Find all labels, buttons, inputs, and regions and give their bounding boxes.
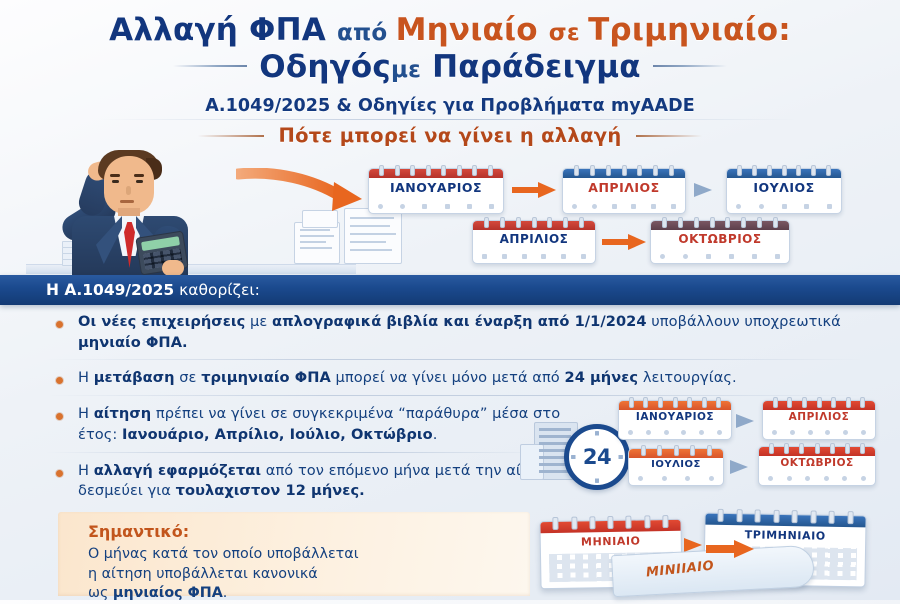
arrow-right-blue-1: [694, 183, 712, 197]
calendar-dots: [638, 476, 714, 481]
calendar-month-label: ΑΠΡΙΛΙΟΣ: [563, 180, 685, 195]
banner-rest: καθορίζει:: [174, 281, 260, 299]
list-item: Οι νέες επιχειρήσεις με απλογραφικά βιβλ…: [40, 312, 870, 353]
seg: αίτηση: [94, 405, 151, 422]
calendar-month-label: ΙΟΥΛΙΟΣ: [727, 180, 841, 195]
calendar-month-label: ΑΠΡΙΛΙΟΣ: [763, 411, 875, 423]
seg: μηνιαίος ΦΠΑ: [113, 585, 223, 601]
arrow-right-orange-4: [706, 540, 754, 558]
calendar-aprilios-top: ΑΠΡΙΛΙΟΣ: [562, 168, 686, 214]
seg: με: [245, 313, 272, 330]
calendar-rings: [563, 165, 685, 174]
bullet-dot-icon: [56, 470, 63, 477]
seg: μετάβαση: [94, 369, 175, 386]
businessman-illustration: [26, 148, 256, 274]
title-part-triminiaio: Τριμηνιαίο:: [588, 12, 791, 48]
calendar-rings: [763, 397, 875, 406]
bullet-dot-icon: [56, 377, 63, 384]
bullet-dot-icon: [56, 321, 63, 328]
left-eyebrow: [110, 174, 120, 177]
right-hand: [162, 260, 184, 276]
calendar-dots: [378, 204, 494, 209]
page-title-line2: Οδηγόςμε Παράδειγμα: [173, 51, 726, 84]
title-part-me: με: [391, 57, 421, 83]
mouth: [120, 200, 134, 203]
title-rule-left: [173, 65, 247, 67]
seg: τριμηνιαίο ΦΠΑ: [201, 369, 331, 386]
calendar-month-label: ΟΚΤΩΒΡΙΟΣ: [759, 457, 875, 469]
head: [104, 156, 154, 214]
documents-group: [294, 208, 404, 266]
seg: ως: [88, 585, 113, 601]
calendar-month-label: ΙΟΥΛΙΟΣ: [629, 459, 723, 470]
bullet-separator: [46, 395, 866, 396]
calendar-oktovrios-bottom: ΟΚΤΩΒΡΙΟΣ: [650, 220, 790, 264]
important-line-1: Ο μήνας κατά τον οποίο υποβάλλεται: [88, 545, 359, 565]
calendar-mid-ianouarios: ΙΑΝΟΥΑΡΙΟΣ: [618, 400, 732, 440]
important-note-box: Σημαντικό: Ο μήνας κατά τον οποίο υποβάλ…: [58, 512, 530, 596]
calendar-rings: [727, 165, 841, 174]
calendar-rings: [473, 217, 595, 226]
calendar-mid-ioulios: ΙΟΥΛΙΟΣ: [628, 448, 724, 486]
calendar-ioulios-top: ΙΟΥΛΙΟΣ: [726, 168, 842, 214]
seg: μηνιαίο ΦΠΑ.: [78, 334, 188, 351]
title-part-paradeigma: Παράδειγμα: [432, 49, 641, 85]
seg: .: [223, 585, 228, 601]
section-rule-left: [198, 135, 264, 137]
calendar-month-label: ΟΚΤΩΒΡΙΟΣ: [651, 232, 789, 246]
calendar-dots: [482, 254, 586, 259]
calendar-dots: [772, 430, 866, 435]
section-header-when-change: Πότε μπορεί να γίνει η αλλαγή: [0, 124, 900, 147]
seg: τουλαχιστον 12 μήνες.: [176, 482, 365, 499]
title-part-allagi: Αλλαγή ΦΠΑ: [109, 12, 337, 48]
calendar-dots: [736, 204, 832, 209]
calendar-dots: [628, 430, 722, 435]
calendar-month-label: ΑΠΡΙΛΙΟΣ: [473, 232, 595, 246]
title-part-apo: από: [337, 20, 396, 46]
calendar-month-label: ΙΑΝΟΥΑΡΙΟΣ: [369, 180, 503, 195]
seg: απλογραφικά βιβλία και έναρξη από 1/1/20…: [272, 313, 647, 330]
left-eye: [112, 180, 119, 183]
bullet-separator: [46, 452, 546, 453]
document-left: [294, 222, 340, 264]
list-item: Η αλλαγή εφαρμόζεται από τον επόμενο μήν…: [40, 461, 598, 502]
page-header: Αλλαγή ΦΠΑ από Μηνιαίο σε Τριμηνιαίο: Οδ…: [0, 0, 900, 120]
bullet-text-1: Οι νέες επιχειρήσεις με απλογραφικά βιβλ…: [78, 312, 870, 353]
calendar-dots: [660, 254, 780, 259]
page-title-line1: Αλλαγή ΦΠΑ από Μηνιαίο σε Τριμηνιαίο:: [109, 14, 791, 47]
arrow-right-blue-2: [736, 414, 754, 428]
seg: Οι νέες επιχειρήσεις: [78, 313, 245, 330]
calendar-ianouarios-top: ΙΑΝΟΥΑΡΙΟΣ: [368, 168, 504, 214]
clock-ticks: [571, 431, 623, 483]
title-part-se: σε: [549, 20, 588, 46]
calendar-rings: [759, 443, 875, 452]
seg: μπορεί να γίνει μόνο μετά από: [331, 369, 565, 386]
seg: Η: [78, 405, 94, 422]
banner-strong: Η Α.1049/2025: [46, 281, 174, 299]
calendar-mid-aprilios: ΑΠΡΙΛΙΟΣ: [762, 400, 876, 440]
bullet-text-2: Η μετάβαση σε τριμηνιαίο ΦΠΑ μπορεί να γ…: [78, 368, 870, 389]
bullet-separator: [46, 359, 866, 360]
calendar-month-label: ΙΑΝΟΥΑΡΙΟΣ: [619, 411, 731, 423]
important-line-3: ως μηνιαίος ΦΠΑ.: [88, 584, 359, 604]
list-item: Η αίτηση πρέπει να γίνει σε συγκεκριμένα…: [40, 404, 578, 445]
seg: λειτουργίας.: [638, 369, 737, 386]
section-header-label: Πότε μπορεί να γίνει η αλλαγή: [278, 124, 621, 147]
seg: Η: [78, 462, 94, 479]
important-title: Σημαντικό:: [88, 522, 189, 541]
important-line-2: η αίτηση υποβάλλεται κανονικά: [88, 565, 359, 585]
calendar-dots: [768, 476, 866, 481]
seg: 24 μήνες: [564, 369, 638, 386]
calendar-rings: [629, 445, 723, 454]
arrow-right-blue-3: [730, 460, 748, 474]
curved-arrow-icon: [236, 168, 366, 214]
right-eye: [136, 180, 143, 183]
infographic-page: Αλλαγή ΦΠΑ από Μηνιαίο σε Τριμηνιαίο: Οδ…: [0, 0, 900, 600]
nose: [126, 186, 131, 195]
calendar-rings: [369, 165, 503, 174]
page-subtitle: Α.1049/2025 & Οδηγίες για Προβλήματα myA…: [205, 96, 695, 116]
title-part-odigos: Οδηγός: [259, 49, 391, 85]
calendar-rings: [619, 397, 731, 406]
bullet-text-3: Η αίτηση πρέπει να γίνει σε συγκεκριμένα…: [78, 404, 578, 445]
right-eyebrow: [134, 174, 144, 177]
calendar-aprilios-bottom: ΑΠΡΙΛΙΟΣ: [472, 220, 596, 264]
seg: Η: [78, 369, 94, 386]
calendar-mid-oktovrios: ΟΚΤΩΒΡΙΟΣ: [758, 446, 876, 486]
title-rule-right: [653, 65, 727, 67]
bullet-dot-icon: [56, 413, 63, 420]
seg: αλλαγή εφαρμόζεται: [94, 462, 261, 479]
bottom-illustration: ΜΗΝΙΑΙΟ ΤΡΙΜΗΝΙΑΙΟ MINIIAIO: [528, 512, 900, 600]
title-part-miniaio: Μηνιαίο: [396, 12, 549, 48]
top-illustration: ΙΑΝΟΥΑΡΙΟΣ ΑΠΡΙΛΙΟΣ ΙΟΥΛΙΟΣ ΑΠΡΙΛΙΟΣ: [0, 146, 900, 274]
seg: σε: [175, 369, 202, 386]
banner-text: Η Α.1049/2025 καθορίζει:: [46, 281, 260, 299]
important-body: Ο μήνας κατά τον οποίο υποβάλλεται η αίτ…: [88, 545, 359, 604]
seg: Ιανουάριο, Απρίλιο, Ιούλιο, Οκτώβριο: [122, 426, 433, 443]
seg: υποβάλλουν υποχρεωτικά: [647, 313, 841, 330]
document-right: [344, 208, 402, 264]
list-item: Η μετάβαση σε τριμηνιαίο ΦΠΑ μπορεί να γ…: [40, 368, 870, 389]
seg: .: [433, 426, 438, 443]
header-divider: [100, 119, 800, 120]
section-banner-decision: Η Α.1049/2025 καθορίζει:: [0, 275, 900, 305]
arrow-right-orange-1: [512, 182, 556, 198]
section-rule-right: [636, 135, 702, 137]
calendar-dots: [572, 204, 676, 209]
arrow-right-orange-2: [602, 234, 646, 250]
calendar-label: ΜΗΝΙΑΙΟ: [541, 534, 681, 549]
mid-illustration: 24 ΙΑΝΟΥΑΡΙΟΣ ΑΠΡΙΛΙΟΣ ΙΟΥΛΙΟΣ ΟΚ: [520, 398, 892, 498]
calendar-rings: [651, 217, 789, 226]
